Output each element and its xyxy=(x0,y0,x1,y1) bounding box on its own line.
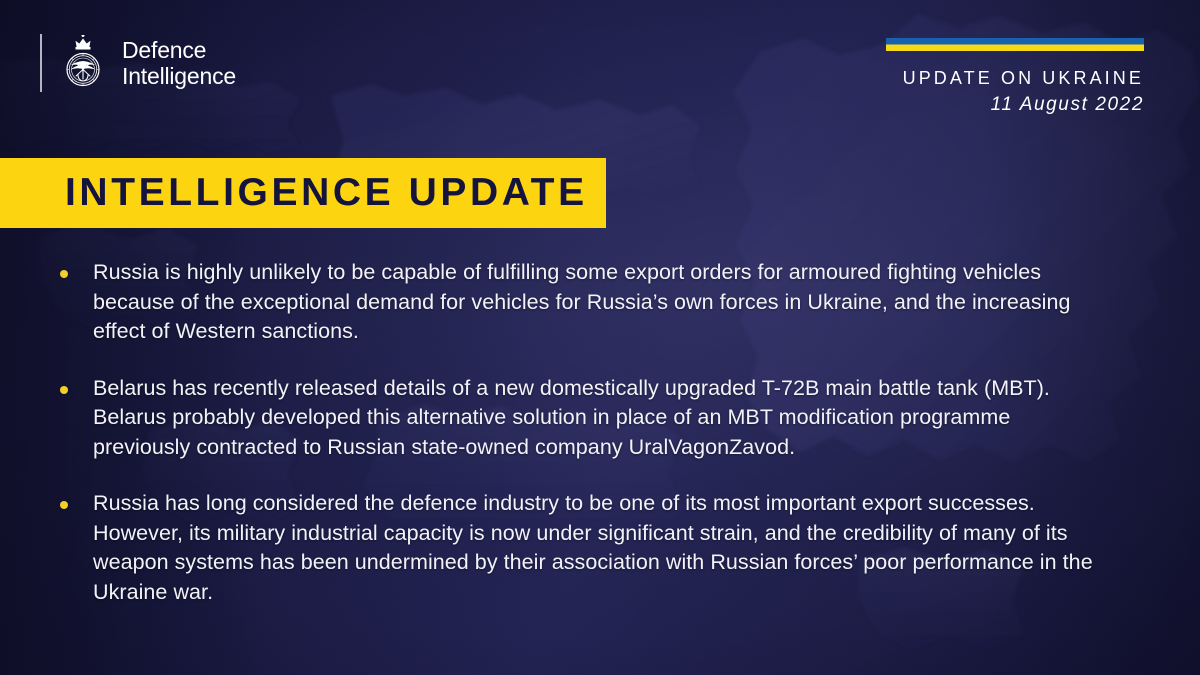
bullet-text: Russia has long considered the defence i… xyxy=(93,489,1103,607)
mod-defence-intelligence-crest-icon xyxy=(58,35,108,91)
update-date: 11 August 2022 xyxy=(886,92,1144,118)
update-title: UPDATE ON UKRAINE xyxy=(886,67,1144,89)
list-item: Russia is highly unlikely to be capable … xyxy=(60,258,1150,347)
ukraine-flag-bar-icon xyxy=(886,38,1144,51)
bullet-list: Russia is highly unlikely to be capable … xyxy=(60,258,1150,607)
intelligence-update-slide: Defence Intelligence UPDATE ON UKRAINE 1… xyxy=(0,0,1200,675)
bullet-text: Russia is highly unlikely to be capable … xyxy=(93,258,1103,347)
bullet-dot-icon xyxy=(60,386,68,394)
banner-label: INTELLIGENCE UPDATE xyxy=(65,172,588,214)
update-on-ukraine-block: UPDATE ON UKRAINE 11 August 2022 xyxy=(886,38,1144,118)
bullet-dot-icon xyxy=(60,270,68,278)
bullet-text: Belarus has recently released details of… xyxy=(93,374,1103,463)
bullet-dot-icon xyxy=(60,501,68,509)
intelligence-update-banner: INTELLIGENCE UPDATE xyxy=(0,158,606,228)
header: Defence Intelligence UPDATE ON UKRAINE 1… xyxy=(0,0,1200,150)
list-item: Russia has long considered the defence i… xyxy=(60,489,1150,607)
brand-name: Defence Intelligence xyxy=(122,37,236,89)
list-item: Belarus has recently released details of… xyxy=(60,374,1150,463)
brand-lockup: Defence Intelligence xyxy=(40,34,236,92)
brand-divider xyxy=(40,34,42,92)
